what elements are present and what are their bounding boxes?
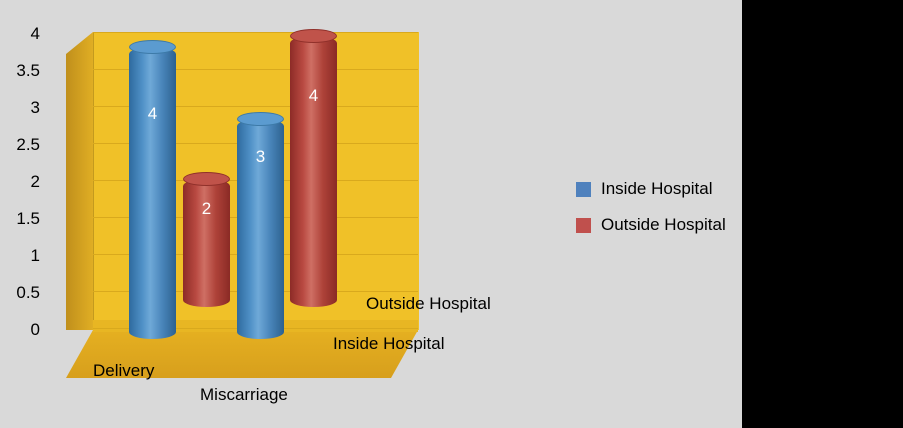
legend-swatch-icon xyxy=(576,182,591,197)
y-tick-2: 2 xyxy=(0,172,40,192)
y-tick-3-5: 3.5 xyxy=(0,61,40,81)
bar-value-label: 3 xyxy=(237,147,284,167)
bar-cap xyxy=(290,29,337,43)
y-tick-1-5: 1.5 xyxy=(0,209,40,229)
bar-cap xyxy=(183,172,230,186)
y-tick-1: 1 xyxy=(0,246,40,266)
bar-miscarriage-inside[interactable]: 3 xyxy=(237,119,284,339)
bar-value-label: 4 xyxy=(290,86,337,106)
legend-item-outside-hospital[interactable]: Outside Hospital xyxy=(576,215,726,235)
y-tick-0-5: 0.5 xyxy=(0,283,40,303)
bar-cap xyxy=(237,112,284,126)
legend-item-inside-hospital[interactable]: Inside Hospital xyxy=(576,179,726,199)
y-tick-2-5: 2.5 xyxy=(0,135,40,155)
legend-label: Inside Hospital xyxy=(601,179,713,199)
depth-label-outside: Outside Hospital xyxy=(366,294,491,314)
y-tick-4: 4 xyxy=(0,24,40,44)
y-tick-0: 0 xyxy=(0,320,40,340)
chart-plot-area: 4 3.5 3 2.5 2 1.5 1 0.5 0 2 4 4 xyxy=(28,24,718,406)
legend-label: Outside Hospital xyxy=(601,215,726,235)
bar-value-label: 2 xyxy=(183,199,230,219)
bar-cap xyxy=(129,40,176,54)
chart-legend: Inside Hospital Outside Hospital xyxy=(576,179,726,251)
bar-body xyxy=(129,47,176,339)
bar-delivery-inside[interactable]: 4 xyxy=(129,47,176,339)
legend-swatch-icon xyxy=(576,218,591,233)
y-tick-3: 3 xyxy=(0,98,40,118)
category-label-delivery: Delivery xyxy=(93,361,154,381)
bar-delivery-outside[interactable]: 2 xyxy=(183,179,230,307)
depth-label-inside: Inside Hospital xyxy=(333,334,445,354)
gridline-4 xyxy=(93,32,418,33)
chart-left-wall xyxy=(66,32,93,330)
category-label-miscarriage: Miscarriage xyxy=(200,385,288,405)
chart-page: 4 3.5 3 2.5 2 1.5 1 0.5 0 2 4 4 xyxy=(0,0,744,428)
bar-value-label: 4 xyxy=(129,104,176,124)
bar-miscarriage-outside[interactable]: 4 xyxy=(290,36,337,307)
bar-body xyxy=(290,36,337,307)
